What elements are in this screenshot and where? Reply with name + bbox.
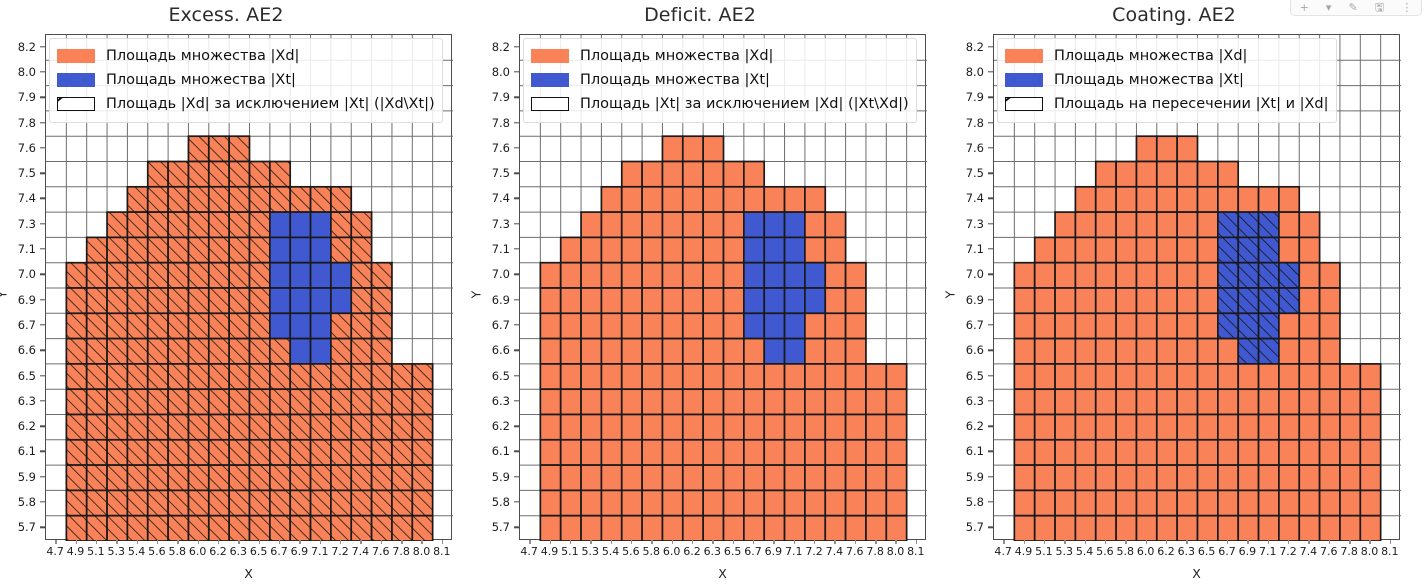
x-tick-label: 6.5: [250, 545, 268, 558]
grid-cell: [764, 364, 784, 389]
grid-cell: [1116, 389, 1136, 414]
grid-cell: [1136, 263, 1156, 288]
grid-cell: [1035, 516, 1055, 541]
grid-cell: [1177, 237, 1197, 262]
legend-item[interactable]: Площадь множества |Xt|: [57, 68, 435, 92]
grid-cell: [662, 187, 682, 212]
grid-cell: [1157, 187, 1177, 212]
grid-cell: [1116, 415, 1136, 440]
y-tick-mark: [514, 350, 519, 351]
x-tick-mark: [1003, 540, 1004, 544]
grid-cell: [561, 490, 581, 515]
y-tick-label: 7.4: [2, 191, 36, 205]
grid-cell: [1238, 415, 1258, 440]
y-tick-mark: [40, 324, 45, 325]
grid-cell: [1116, 339, 1136, 364]
grid-cell: [662, 339, 682, 364]
grid-cell: [825, 237, 845, 262]
grid-cell: [1238, 389, 1258, 414]
x-tick-label: 7.6: [1320, 545, 1338, 558]
y-tick-mark: [514, 299, 519, 300]
grid-cell: [703, 162, 723, 187]
grid-cell: [1116, 313, 1136, 338]
grid-cell: [622, 339, 642, 364]
x-tick-label: 5.6: [148, 545, 166, 558]
legend-label: Площадь множества |Xt|: [580, 72, 770, 88]
grid-cell: [540, 440, 560, 465]
y-tick-label: 5.9: [950, 470, 984, 484]
grid-cell: [1320, 415, 1340, 440]
y-tick-label: 6.3: [2, 394, 36, 408]
grid-cell: [581, 389, 601, 414]
grid-cell: [1177, 490, 1197, 515]
grid-cell: [642, 440, 662, 465]
x-axis-label: X: [519, 566, 926, 581]
grid-cell: [642, 313, 662, 338]
grid-cell: [805, 288, 825, 313]
grid-cell: [764, 237, 784, 262]
x-tick-label: 5.4: [602, 545, 620, 558]
x-tick-label: 6.2: [209, 545, 227, 558]
y-tick-label: 8.0: [476, 65, 510, 79]
grid-cell: [561, 364, 581, 389]
grid-cell: [1014, 364, 1034, 389]
grid-cell: [805, 364, 825, 389]
grid-cell: [1096, 187, 1116, 212]
y-tick-mark: [40, 451, 45, 452]
x-tick-mark: [1105, 540, 1106, 544]
grid-cell: [1238, 516, 1258, 541]
grid-cell: [1198, 364, 1218, 389]
y-tick-mark: [514, 97, 519, 98]
y-tick-mark: [988, 451, 993, 452]
grid-cell: [724, 516, 744, 541]
x-tick-label: 6.2: [683, 545, 701, 558]
x-tick-mark: [875, 540, 876, 544]
grid-cell: [1238, 465, 1258, 490]
grid-cell: [642, 288, 662, 313]
grid-cell: [825, 465, 845, 490]
grid-cell: [1238, 364, 1258, 389]
grid-cell: [1299, 212, 1319, 237]
y-tick-mark: [988, 400, 993, 401]
grid-cell: [1157, 263, 1177, 288]
grid-cell: [642, 516, 662, 541]
x-tick-mark: [834, 540, 835, 544]
y-tick-label: 7.5: [476, 166, 510, 180]
legend-item[interactable]: Площадь множества |Xd|: [1005, 44, 1329, 68]
blue-swatch: [57, 73, 95, 87]
x-tick-label: 8.1: [433, 545, 451, 558]
y-tick-mark: [988, 198, 993, 199]
y-tick-mark: [40, 476, 45, 477]
grid-cell: [1014, 339, 1034, 364]
panel-title: Excess. AE2: [0, 4, 452, 26]
x-tick-label: 7.8: [1340, 545, 1358, 558]
x-tick-mark: [381, 540, 382, 544]
y-tick-label: 7.3: [476, 217, 510, 231]
grid-cell: [1259, 187, 1279, 212]
x-tick-mark: [299, 540, 300, 544]
chart-panel-2: Deficit. AE28.28.07.97.87.67.57.47.37.17…: [474, 0, 948, 587]
grid-cell: [311, 263, 331, 288]
grid-cell: [1360, 490, 1380, 515]
grid-cell: [724, 237, 744, 262]
y-tick-mark: [514, 400, 519, 401]
plain-swatch: [531, 97, 569, 111]
x-tick-mark: [76, 540, 77, 544]
grid-cell: [785, 187, 805, 212]
grid-cell: [1116, 212, 1136, 237]
grid-cell: [785, 313, 805, 338]
x-tick-label: 7.8: [392, 545, 410, 558]
x-axis-label: X: [45, 566, 452, 581]
legend-item[interactable]: Площадь множества |Xt|: [1005, 68, 1329, 92]
grid-cell: [1014, 288, 1034, 313]
grid-cell: [622, 263, 642, 288]
grid-cell: [724, 187, 744, 212]
y-tick-label: 5.7: [950, 520, 984, 534]
x-tick-mark: [1247, 540, 1248, 544]
grid-cell: [1096, 440, 1116, 465]
x-tick-label: 5.4: [1076, 545, 1094, 558]
grid-cell: [1055, 263, 1075, 288]
legend-item[interactable]: Площадь на пересечении |Xt| и |Xd|: [1005, 92, 1329, 116]
y-tick-label: 7.3: [950, 217, 984, 231]
grid-cell: [1279, 415, 1299, 440]
grid-cell: [1055, 465, 1075, 490]
grid-cell: [764, 440, 784, 465]
legend-item[interactable]: Площадь |Xd| за исключением |Xt| (|Xd\Xt…: [57, 92, 435, 116]
grid-cell: [1055, 516, 1075, 541]
grid-cell: [561, 313, 581, 338]
grid-cell: [311, 339, 331, 364]
grid-cell: [1035, 288, 1055, 313]
grid-cell: [846, 389, 866, 414]
grid-cell: [662, 162, 682, 187]
grid-cell: [1218, 490, 1238, 515]
y-tick-mark: [514, 147, 519, 148]
grid-cell: [1320, 364, 1340, 389]
x-tick-label: 7.8: [866, 545, 884, 558]
grid-cell: [1340, 465, 1360, 490]
y-tick-label: 6.3: [950, 394, 984, 408]
grid-cell: [1075, 440, 1095, 465]
x-tick-label: 6.0: [189, 545, 207, 558]
grid-cell: [601, 490, 621, 515]
grid-cell: [1035, 490, 1055, 515]
grid-cell: [1198, 212, 1218, 237]
x-tick-label: 5.8: [1117, 545, 1135, 558]
legend: Площадь множества |Xd|Площадь множества …: [49, 38, 443, 123]
grid-cell: [683, 389, 703, 414]
chart-panel-3: Coating. AE28.28.07.97.87.67.57.47.37.17…: [948, 0, 1422, 587]
grid-cell: [622, 389, 642, 414]
y-tick-label: 6.5: [950, 369, 984, 383]
x-tick-label: 8.1: [907, 545, 925, 558]
grid-cell: [1360, 364, 1380, 389]
x-tick-label: 4.7: [520, 545, 538, 558]
grid-cell: [601, 516, 621, 541]
grid-cell: [703, 440, 723, 465]
grid-cell: [561, 465, 581, 490]
grid-cell: [1259, 440, 1279, 465]
grid-cell: [1238, 440, 1258, 465]
grid-cell: [785, 415, 805, 440]
grid-cell: [1014, 465, 1034, 490]
grid-cell: [1238, 490, 1258, 515]
grid-cell: [683, 339, 703, 364]
grid-cell: [1198, 263, 1218, 288]
grid-cell: [744, 389, 764, 414]
grid-cell: [601, 364, 621, 389]
x-tick-mark: [177, 540, 178, 544]
y-tick-mark: [988, 299, 993, 300]
x-tick-label: 7.6: [372, 545, 390, 558]
grid-cell: [1177, 187, 1197, 212]
x-tick-mark: [1207, 540, 1208, 544]
x-tick-label: 6.5: [1198, 545, 1216, 558]
legend-label: Площадь множества |Xt|: [106, 72, 296, 88]
y-tick-label: 8.2: [476, 40, 510, 54]
grid-cell: [540, 339, 560, 364]
grid-cell: [1014, 313, 1034, 338]
grid-cell: [601, 415, 621, 440]
grid-cell: [662, 389, 682, 414]
grid-cell: [662, 136, 682, 161]
grid-cell: [744, 364, 764, 389]
grid-cell: [1075, 465, 1095, 490]
x-tick-label: 5.3: [581, 545, 599, 558]
x-tick-label: 7.4: [1300, 545, 1318, 558]
grid-cell: [1116, 516, 1136, 541]
grid-cell: [1136, 516, 1156, 541]
grid-cell: [540, 516, 560, 541]
x-tick-label: 6.7: [744, 545, 762, 558]
grid-cell: [662, 237, 682, 262]
x-tick-label: 8.0: [413, 545, 431, 558]
hatch-swatch: [1005, 97, 1043, 111]
hatch-swatch: [57, 97, 95, 111]
grid-cell: [1096, 490, 1116, 515]
grid-cell: [683, 415, 703, 440]
y-tick-label: 7.9: [2, 90, 36, 104]
grid-cell: [683, 187, 703, 212]
grid-cell: [846, 516, 866, 541]
grid-cell: [866, 440, 886, 465]
grid-cell: [1259, 490, 1279, 515]
grid-cell: [785, 237, 805, 262]
blue-swatch: [531, 73, 569, 87]
grid-cell: [290, 263, 310, 288]
grid-cell: [290, 339, 310, 364]
grid-cell: [642, 389, 662, 414]
grid-cell: [1136, 136, 1156, 161]
x-tick-mark: [198, 540, 199, 544]
y-tick-mark: [40, 350, 45, 351]
grid-cell: [1177, 313, 1197, 338]
grid-cell: [1177, 389, 1197, 414]
y-tick-mark: [988, 527, 993, 528]
grid-cell: [662, 288, 682, 313]
grid-cell: [805, 187, 825, 212]
grid-cell: [703, 339, 723, 364]
grid-cell: [581, 212, 601, 237]
grid-cell: [642, 465, 662, 490]
y-tick-mark: [988, 122, 993, 123]
y-tick-mark: [40, 97, 45, 98]
grid-cell: [1096, 263, 1116, 288]
y-tick-mark: [40, 274, 45, 275]
grid-cell: [1055, 415, 1075, 440]
grid-cell: [703, 313, 723, 338]
grid-cell: [1299, 415, 1319, 440]
x-tick-label: 7.4: [826, 545, 844, 558]
legend-label: Площадь |Xd| за исключением |Xt| (|Xd\Xt…: [106, 96, 435, 112]
grid-cell: [1177, 288, 1197, 313]
panel-title: Coating. AE2: [948, 4, 1400, 26]
grid-cell: [270, 212, 290, 237]
grid-cell: [1198, 465, 1218, 490]
grid-cell: [1299, 237, 1319, 262]
x-tick-mark: [529, 540, 530, 544]
grid-cell: [1360, 440, 1380, 465]
grid-cell: [744, 187, 764, 212]
x-tick-mark: [401, 540, 402, 544]
y-tick-mark: [514, 223, 519, 224]
grid-cell: [785, 516, 805, 541]
y-tick-label: 7.8: [476, 116, 510, 130]
y-tick-label: 7.1: [2, 242, 36, 256]
grid-cell: [805, 389, 825, 414]
grid-cell: [825, 516, 845, 541]
y-tick-label: 7.0: [950, 267, 984, 281]
y-tick-mark: [988, 172, 993, 173]
y-tick-mark: [988, 350, 993, 351]
grid-cell: [764, 263, 784, 288]
grid-cell: [1075, 263, 1095, 288]
grid-cell: [311, 313, 331, 338]
grid-cell: [540, 465, 560, 490]
grid-cell: [622, 212, 642, 237]
y-tick-mark: [988, 97, 993, 98]
y-tick-mark: [40, 375, 45, 376]
y-tick-label: 7.9: [476, 90, 510, 104]
legend-label: Площадь множества |Xd|: [106, 48, 299, 64]
legend-item[interactable]: Площадь множества |Xd|: [531, 44, 909, 68]
legend-item[interactable]: Площадь множества |Xt|: [531, 68, 909, 92]
grid-cell: [1116, 263, 1136, 288]
grid-cell: [1136, 415, 1156, 440]
y-tick-label: 5.9: [2, 470, 36, 484]
grid-cell: [703, 187, 723, 212]
grid-cell: [581, 516, 601, 541]
grid-cell: [744, 288, 764, 313]
y-tick-mark: [988, 223, 993, 224]
grid-cell: [886, 440, 906, 465]
legend-item[interactable]: Площадь |Xt| за исключением |Xd| (|Xt\Xd…: [531, 92, 909, 116]
x-tick-label: 6.0: [663, 545, 681, 558]
grid-cell: [1035, 465, 1055, 490]
grid-cell: [866, 465, 886, 490]
grid-cell: [1055, 212, 1075, 237]
grid-cell: [1177, 136, 1197, 161]
y-tick-mark: [988, 425, 993, 426]
grid-cell: [1218, 415, 1238, 440]
grid-cell: [1035, 440, 1055, 465]
grid-cell: [1014, 440, 1034, 465]
x-tick-mark: [360, 540, 361, 544]
grid-cell: [1116, 490, 1136, 515]
grid-cell: [683, 465, 703, 490]
grid-cell: [846, 415, 866, 440]
grid-cell: [1157, 465, 1177, 490]
grid-cell: [703, 364, 723, 389]
grid-cell: [1157, 364, 1177, 389]
grid-cell: [1157, 339, 1177, 364]
grid-cell: [622, 465, 642, 490]
y-tick-label: 7.9: [950, 90, 984, 104]
x-tick-mark: [1390, 540, 1391, 544]
grid-cell: [805, 440, 825, 465]
grid-cell: [1360, 465, 1380, 490]
grid-cell: [1157, 440, 1177, 465]
grid-cell: [1218, 364, 1238, 389]
grid-cell: [622, 490, 642, 515]
grid-cell: [785, 288, 805, 313]
x-tick-mark: [1064, 540, 1065, 544]
x-tick-label: 5.6: [622, 545, 640, 558]
grid-cell: [540, 490, 560, 515]
grid-cell: [703, 465, 723, 490]
y-tick-label: 7.4: [476, 191, 510, 205]
legend-item[interactable]: Площадь множества |Xd|: [57, 44, 435, 68]
grid-cell: [1055, 313, 1075, 338]
grid-cell: [886, 364, 906, 389]
grid-cell: [1116, 237, 1136, 262]
grid-cell: [1340, 389, 1360, 414]
x-tick-label: 7.1: [1259, 545, 1277, 558]
y-tick-label: 6.6: [476, 343, 510, 357]
grid-cell: [662, 263, 682, 288]
x-tick-label: 7.1: [311, 545, 329, 558]
y-tick-label: 5.9: [476, 470, 510, 484]
grid-cell: [744, 237, 764, 262]
x-tick-mark: [116, 540, 117, 544]
grid-cell: [581, 288, 601, 313]
grid-cell: [1259, 415, 1279, 440]
grid-cell: [1096, 339, 1116, 364]
grid-cell: [662, 212, 682, 237]
grid-cell: [331, 288, 351, 313]
grid-cell: [1198, 389, 1218, 414]
y-tick-mark: [40, 501, 45, 502]
grid-cell: [724, 364, 744, 389]
grid-cell: [1136, 288, 1156, 313]
orange-swatch: [57, 49, 95, 63]
grid-cell: [1279, 389, 1299, 414]
grid-cell: [1157, 212, 1177, 237]
grid-cell: [1259, 465, 1279, 490]
grid-cell: [561, 237, 581, 262]
grid-cell: [1279, 516, 1299, 541]
grid-cell: [683, 212, 703, 237]
grid-cell: [1340, 490, 1360, 515]
grid-cell: [1157, 237, 1177, 262]
y-tick-label: 5.8: [476, 495, 510, 509]
grid-cell: [581, 465, 601, 490]
x-tick-mark: [421, 540, 422, 544]
